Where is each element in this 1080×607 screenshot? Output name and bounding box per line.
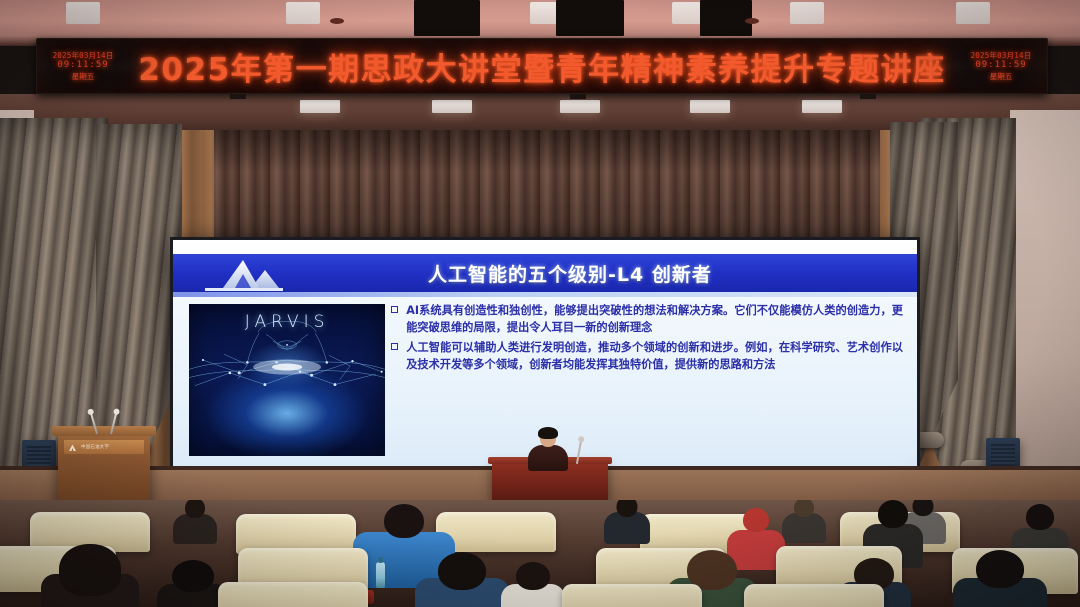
seat: [218, 582, 368, 607]
ceiling-light: [286, 2, 320, 24]
ceiling-vent: [556, 0, 624, 36]
led-banner: 2025年03月14日 09:11:59 星期五 2025年第一期思政大讲堂暨青…: [36, 38, 1048, 94]
person-head: [185, 500, 205, 518]
person-head: [438, 552, 486, 590]
audience-person: [952, 550, 1048, 607]
water-bottle: [376, 562, 385, 588]
person-head: [384, 504, 424, 538]
slide-bullets: AI系统具有创造性和独创性，能够提出突破性的想法和解决方案。它们不仅能模仿人类的…: [385, 298, 917, 474]
person-head: [617, 500, 638, 517]
audience: [0, 500, 1080, 607]
bullet-item: AI系统具有创造性和独创性，能够提出突破性的想法和解决方案。它们不仅能模仿人类的…: [391, 302, 903, 336]
wall-light: [300, 100, 340, 113]
ceiling-vent: [700, 0, 752, 36]
audience-person: [500, 562, 566, 607]
led-clock-right: 2025年03月14日 09:11:59 星期五: [955, 51, 1047, 81]
ceiling-spotlight: [745, 18, 759, 24]
person-head: [878, 500, 908, 528]
lecture-hall-photo: 2025年03月14日 09:11:59 星期五 2025年第一期思政大讲堂暨青…: [0, 0, 1080, 607]
ceiling-light: [956, 2, 990, 24]
jarvis-label: JARVIS: [189, 312, 385, 332]
audience-person: [40, 544, 140, 607]
bullet-text: 人工智能可以辅助人类进行发明创造，推动多个领域的创新和进步。例如，在科学研究、艺…: [406, 341, 903, 371]
wall-light: [690, 100, 730, 113]
podium-top: [52, 426, 156, 436]
person-head: [59, 544, 121, 596]
ceiling-light: [66, 2, 100, 24]
mountain-logo: [193, 250, 289, 296]
seat: [562, 584, 702, 607]
wall-light: [432, 100, 472, 113]
presenter-hair: [538, 427, 558, 439]
person-head: [172, 560, 214, 592]
person-head: [794, 500, 814, 517]
person-body: [173, 514, 217, 544]
led-clock-right-weekday: 星期五: [955, 72, 1047, 81]
led-clock-left-date: 2025年03月14日: [37, 51, 129, 60]
seat: [744, 584, 884, 607]
jarvis-image: JARVIS: [189, 304, 385, 456]
audience-person: [782, 500, 826, 538]
person-head: [516, 562, 550, 590]
person-head: [1026, 504, 1054, 530]
slide-title: 人工智能的五个级别-L4 创新者: [428, 254, 905, 292]
wall-light: [802, 100, 842, 113]
banner-mount: [860, 94, 876, 99]
led-clock-right-time: 09:11:59: [955, 60, 1047, 71]
banner-mount: [570, 94, 586, 99]
audience-person: [172, 500, 218, 538]
led-clock-left-time: 09:11:59: [37, 60, 129, 71]
led-clock-left: 2025年03月14日 09:11:59 星期五: [37, 51, 129, 81]
bullet-square-icon: [391, 343, 398, 350]
mountain-logo: [67, 443, 78, 452]
ceiling-vent: [414, 0, 480, 36]
ceiling-spotlight: [330, 18, 344, 24]
presenter: [526, 429, 570, 469]
podium-nameplate: 中国石油大学: [64, 440, 144, 454]
wall-light: [560, 100, 600, 113]
person-head: [976, 550, 1024, 588]
ceiling-light: [790, 2, 824, 24]
podium: 中国石油大学: [58, 432, 150, 507]
presenter-body: [528, 445, 568, 471]
led-clock-right-date: 2025年03月14日: [955, 51, 1047, 60]
audience-person: [414, 552, 510, 607]
led-clock-left-weekday: 星期五: [37, 72, 129, 81]
podium-nameplate-text: 中国石油大学: [81, 444, 109, 450]
led-banner-title: 2025年第一期思政大讲堂暨青年精神素养提升专题讲座: [129, 44, 955, 89]
slide-header: 人工智能的五个级别-L4 创新者: [173, 254, 917, 292]
bullet-item: 人工智能可以辅助人类进行发明创造，推动多个领域的创新和进步。例如，在科学研究、艺…: [391, 339, 903, 373]
person-head: [743, 508, 769, 532]
audience-person: [604, 500, 650, 538]
bullet-text: AI系统具有创造性和独创性，能够提出突破性的想法和解决方案。它们不仅能模仿人类的…: [406, 304, 903, 334]
bullet-square-icon: [391, 306, 398, 313]
banner-mount: [230, 94, 246, 99]
person-body: [782, 513, 826, 543]
